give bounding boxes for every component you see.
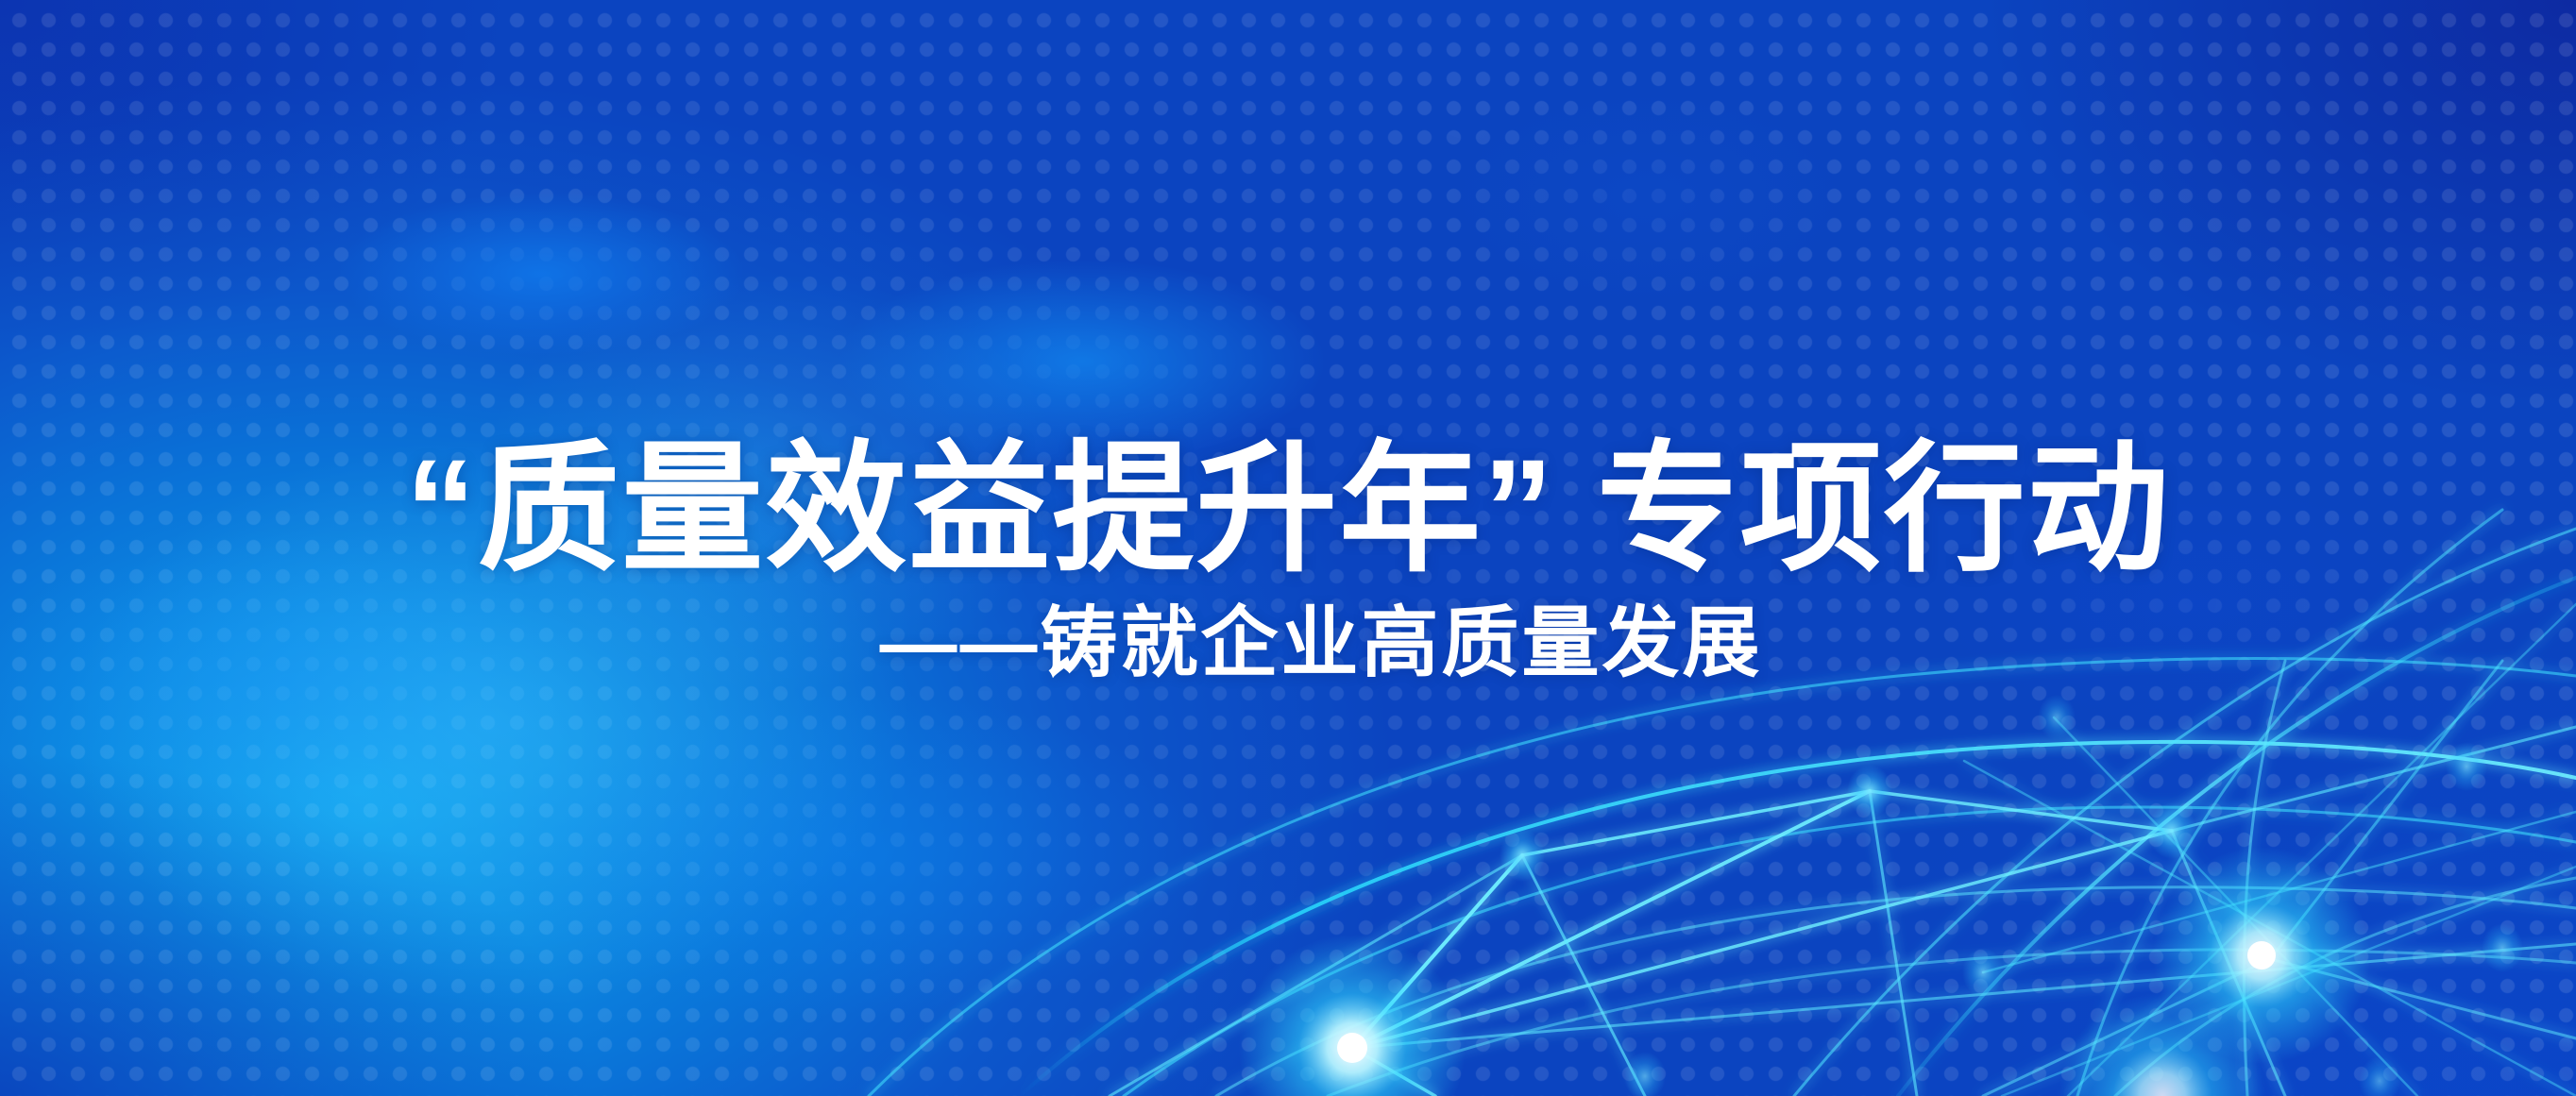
- banner-text-block: “质量效益提升年” 专项行动 ——铸就企业高质量发展: [0, 430, 2576, 688]
- page-subtitle: ——铸就企业高质量发展: [0, 599, 2576, 688]
- promo-banner: “质量效益提升年” 专项行动 ——铸就企业高质量发展: [0, 0, 2576, 1096]
- page-title: “质量效益提升年” 专项行动: [0, 430, 2576, 588]
